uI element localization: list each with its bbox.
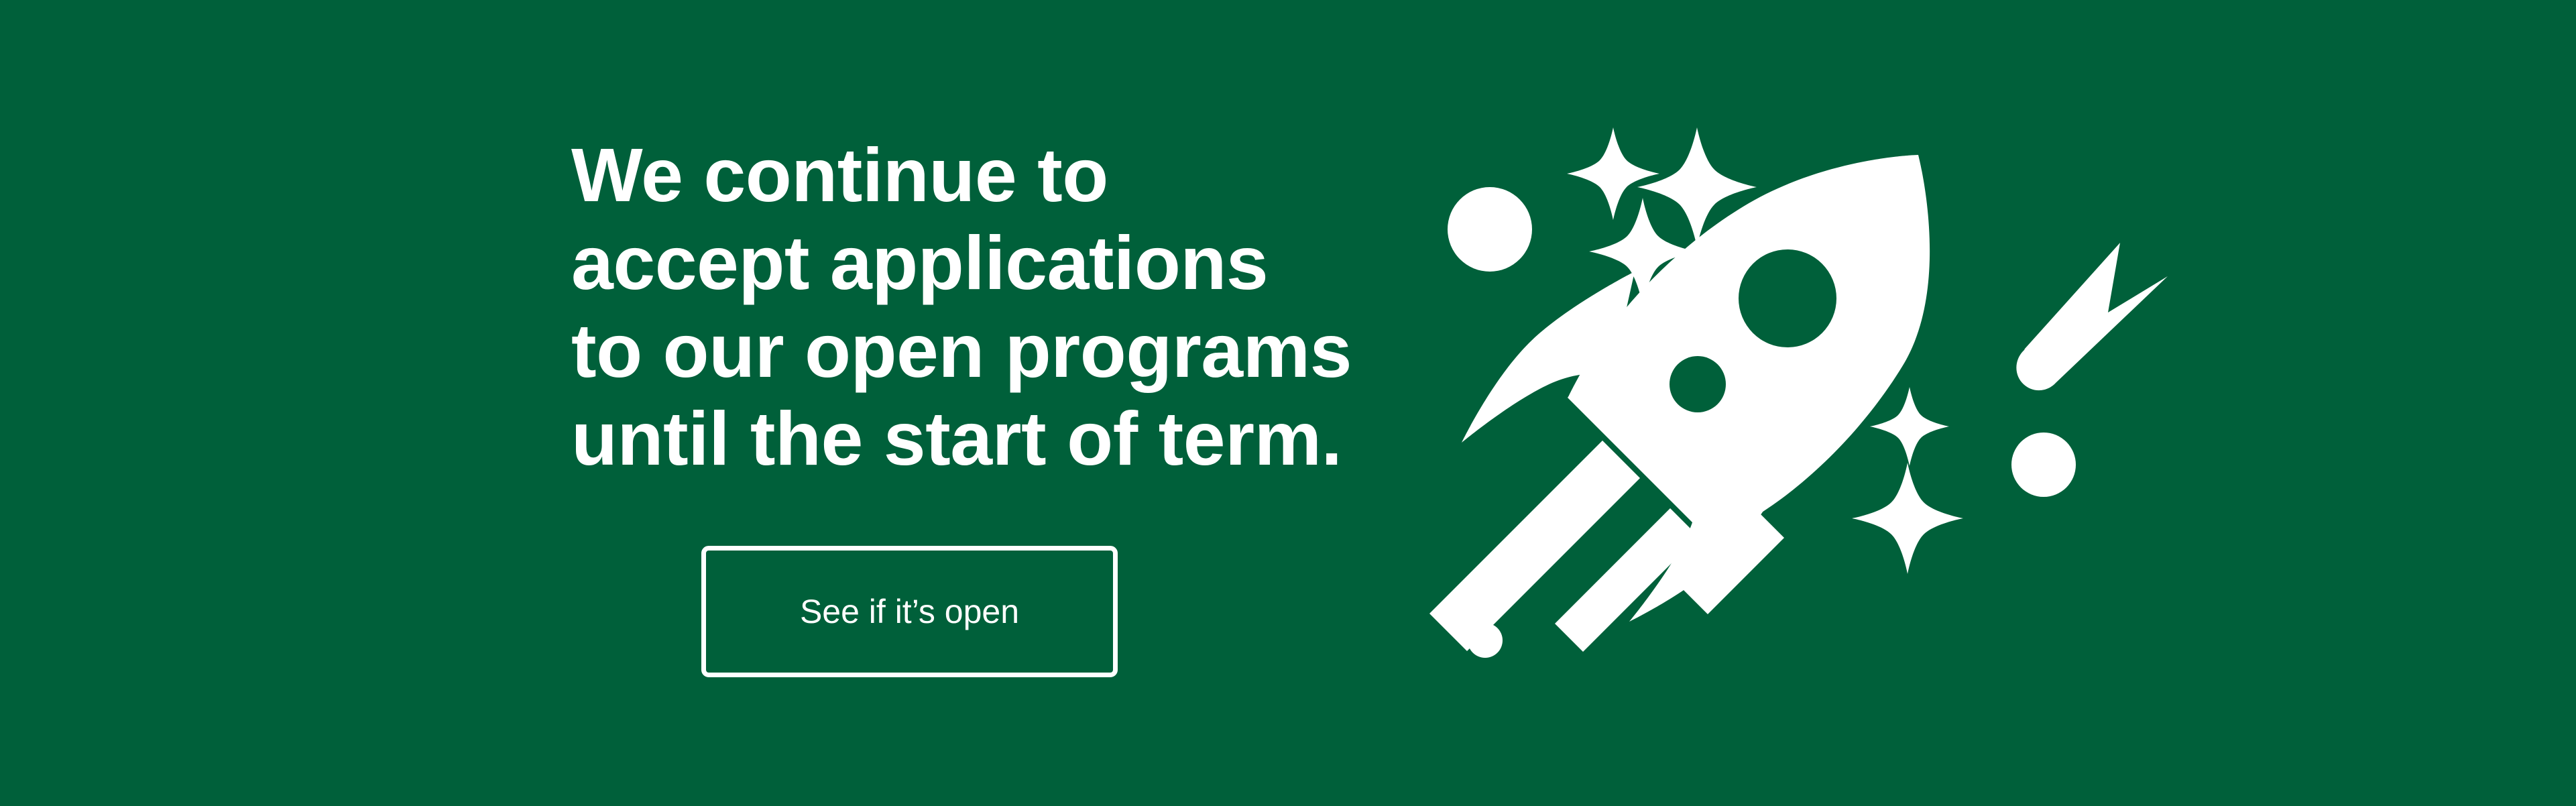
medium-circle-icon: [2011, 433, 2076, 497]
promo-banner: We continue to accept applications to ou…: [0, 0, 2576, 806]
sparkle-star-upper-left-small-icon: [1567, 127, 1659, 220]
sparkle-star-right-small-icon: [1870, 387, 1949, 466]
sparkle-cluster-right: [1852, 387, 1963, 574]
headline-line-1: We continue to: [571, 131, 1409, 219]
headline-line-2: accept applications: [571, 219, 1409, 307]
page-title: We continue to accept applications to ou…: [571, 131, 1409, 483]
headline-line-3: to our open programs: [571, 307, 1409, 395]
rocket-window-large-icon: [1739, 249, 1836, 347]
rocket-launch-illustration: [1421, 127, 2199, 684]
sparkle-star-right-large-icon: [1852, 463, 1963, 574]
headline-line-4: until the start of term.: [571, 395, 1409, 483]
rocket-window-small-icon: [1670, 356, 1726, 412]
large-circle-icon: [1448, 187, 1532, 272]
copy-block: We continue to accept applications to ou…: [571, 131, 1409, 483]
comet-shooting-star-icon: [2016, 243, 2168, 390]
see-if-its-open-button[interactable]: See if it’s open: [701, 546, 1118, 677]
